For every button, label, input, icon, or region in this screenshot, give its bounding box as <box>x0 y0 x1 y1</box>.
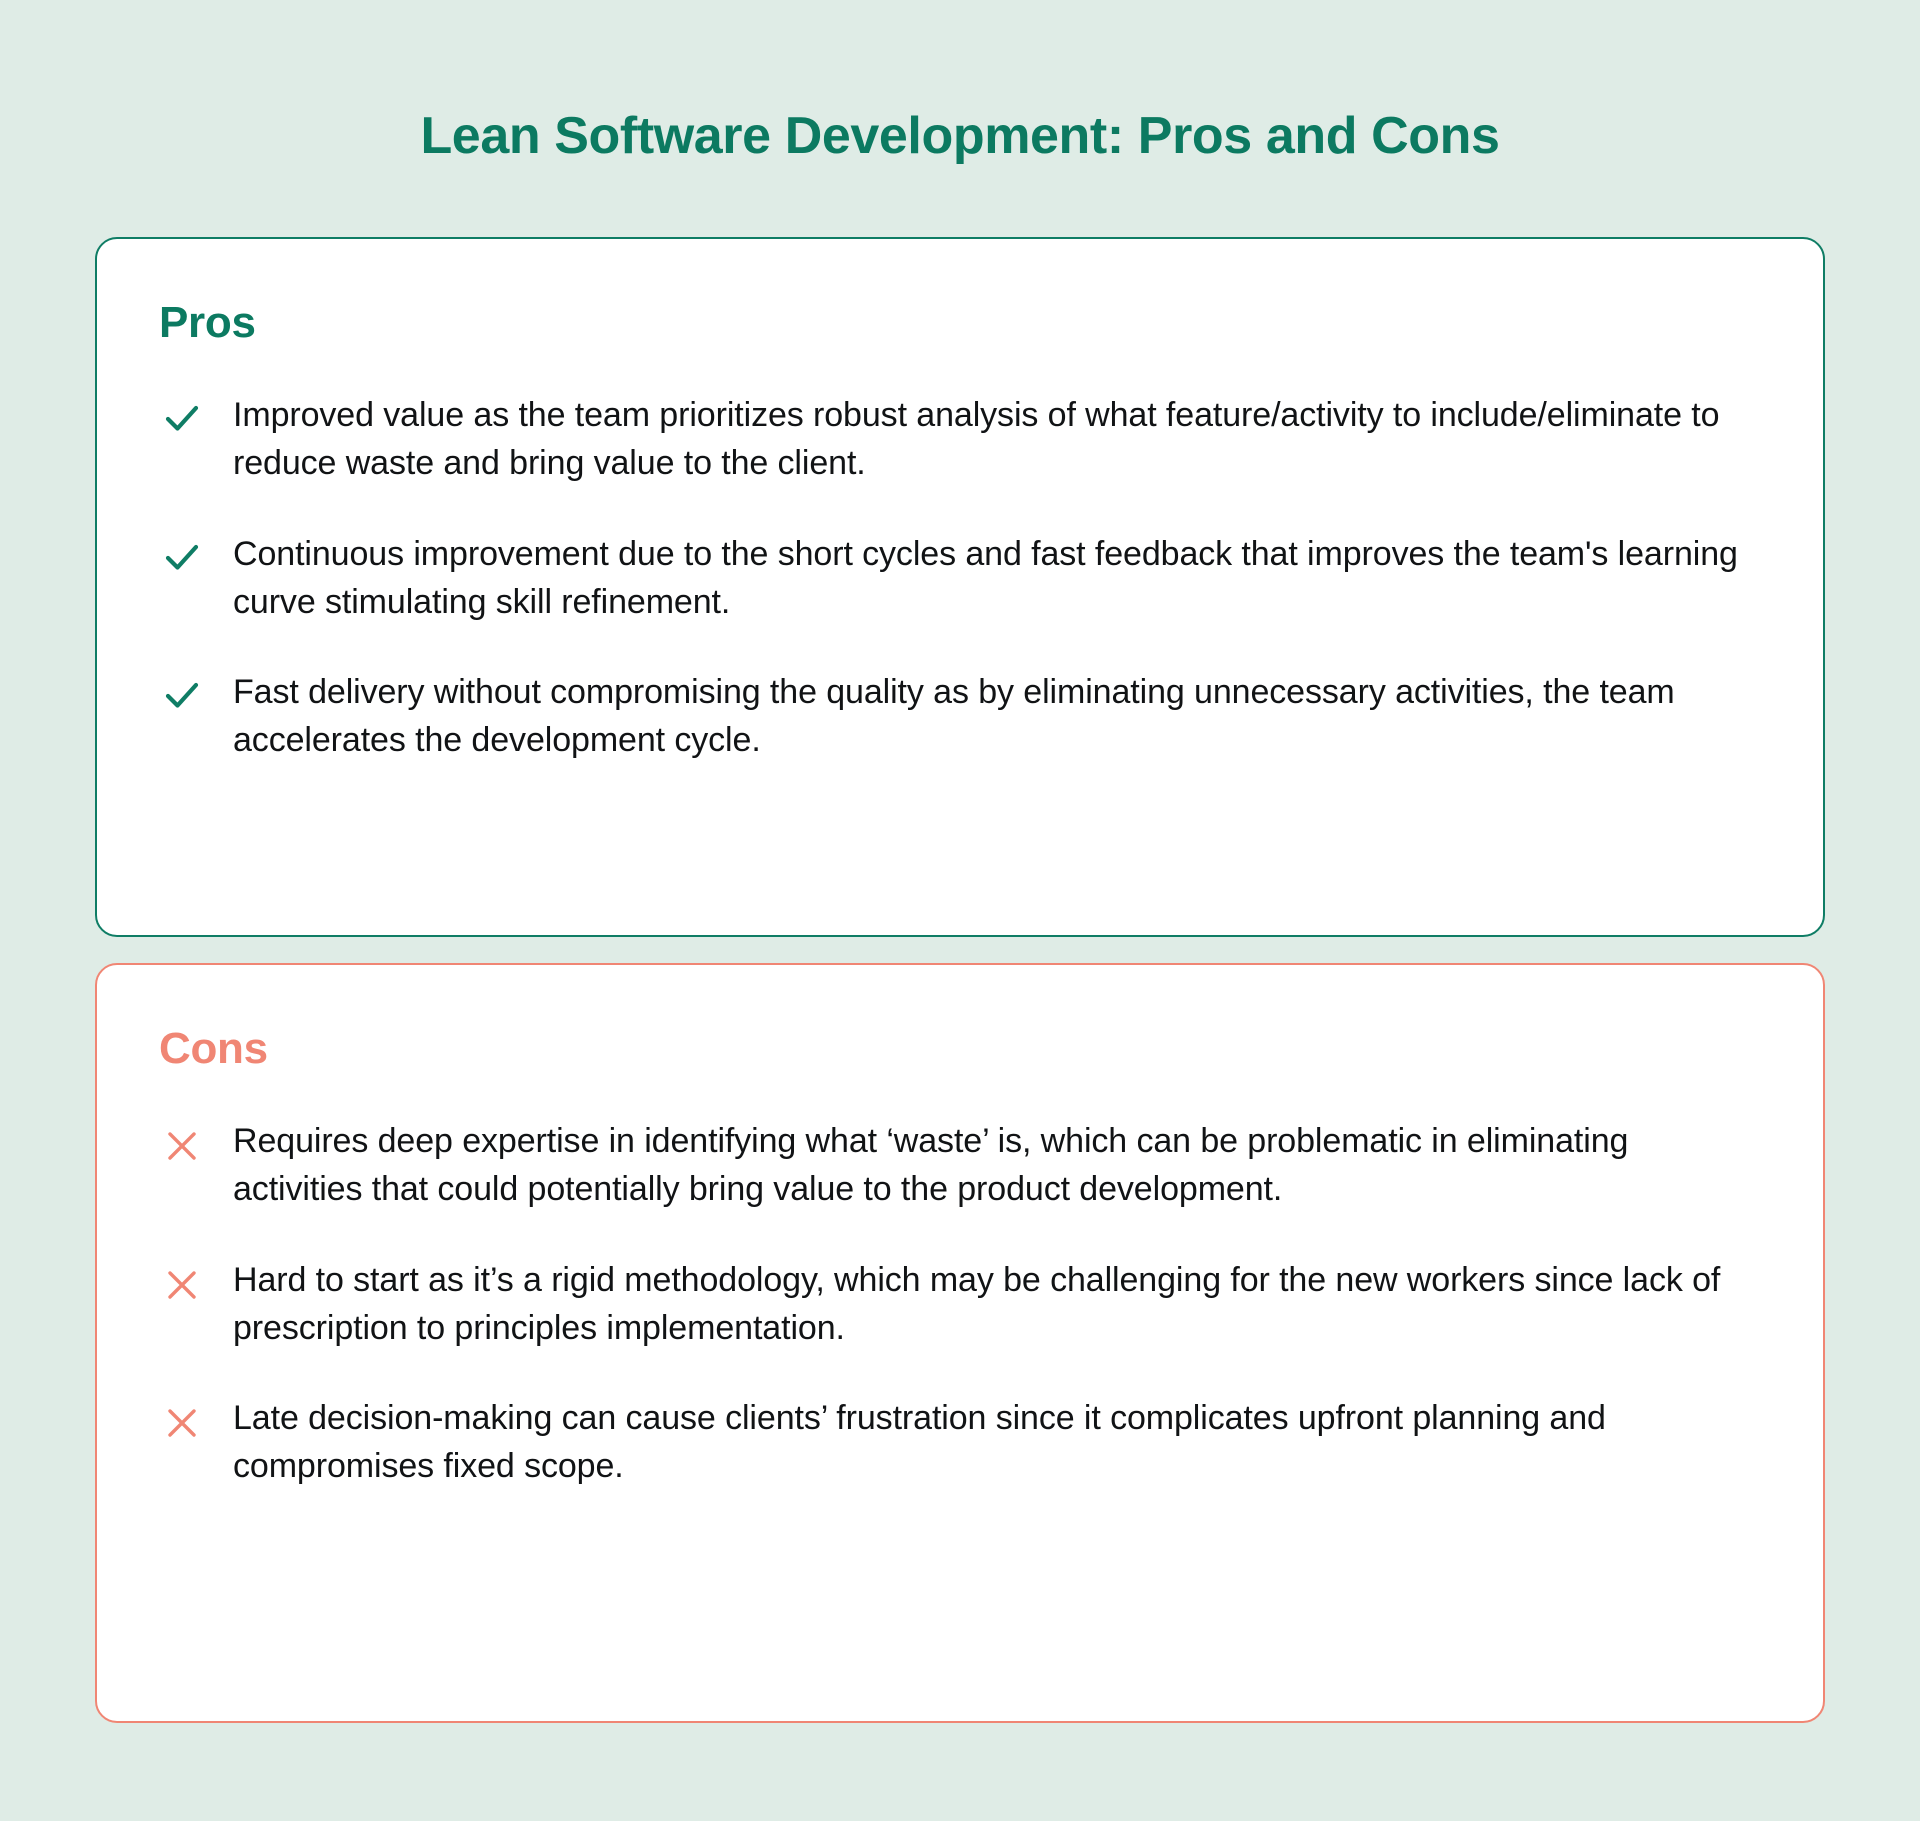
check-icon <box>159 672 205 718</box>
cons-heading: Cons <box>159 1027 1753 1071</box>
x-icon <box>159 1400 205 1446</box>
check-icon <box>159 395 205 441</box>
pros-item-text: Improved value as the team prioritizes r… <box>233 391 1753 488</box>
pros-card: Pros Improved value as the team prioriti… <box>95 237 1825 937</box>
list-item: Improved value as the team prioritizes r… <box>159 391 1753 488</box>
list-item: Continuous improvement due to the short … <box>159 530 1753 627</box>
cons-item-text: Hard to start as it’s a rigid methodolog… <box>233 1256 1753 1353</box>
cons-item-text: Late decision-making can cause clients’ … <box>233 1394 1753 1491</box>
cons-item-text: Requires deep expertise in identifying w… <box>233 1117 1753 1214</box>
pros-item-text: Continuous improvement due to the short … <box>233 530 1753 627</box>
pros-cons-infographic: Lean Software Development: Pros and Cons… <box>0 0 1920 1821</box>
x-icon <box>159 1262 205 1308</box>
list-item: Hard to start as it’s a rigid methodolog… <box>159 1256 1753 1353</box>
cons-card: Cons Requires deep expertise in identify… <box>95 963 1825 1723</box>
pros-heading: Pros <box>159 301 1753 345</box>
cons-list: Requires deep expertise in identifying w… <box>159 1117 1753 1491</box>
x-icon <box>159 1123 205 1169</box>
list-item: Fast delivery without compromising the q… <box>159 668 1753 765</box>
page-title: Lean Software Development: Pros and Cons <box>0 0 1920 165</box>
pros-list: Improved value as the team prioritizes r… <box>159 391 1753 765</box>
pros-item-text: Fast delivery without compromising the q… <box>233 668 1753 765</box>
list-item: Late decision-making can cause clients’ … <box>159 1394 1753 1491</box>
list-item: Requires deep expertise in identifying w… <box>159 1117 1753 1214</box>
check-icon <box>159 534 205 580</box>
cards-container: Pros Improved value as the team prioriti… <box>95 237 1825 1723</box>
